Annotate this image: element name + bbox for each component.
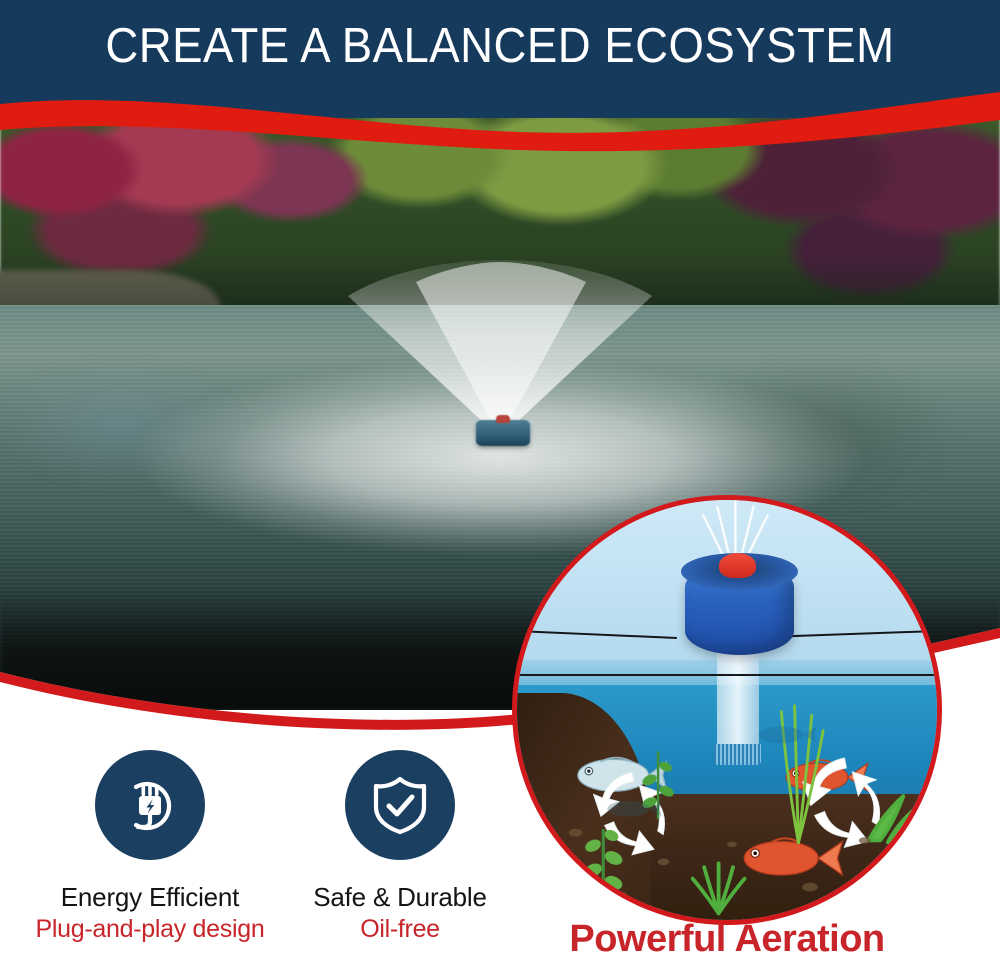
power-plug-icon xyxy=(116,771,184,839)
feature-energy-efficient: Energy Efficient Plug-and-play design xyxy=(25,750,275,944)
feature-icon-wrapper xyxy=(95,750,205,860)
product-infographic: CREATE A BALANCED ECOSYSTEM xyxy=(0,0,1000,970)
page-title: CREATE A BALANCED ECOSYSTEM xyxy=(35,18,965,74)
pebbles xyxy=(517,794,937,920)
pond-aerator-unit xyxy=(476,420,530,446)
fountain-spray-icon xyxy=(330,260,670,440)
fish-background-1 xyxy=(752,718,819,752)
red-wave-divider-top xyxy=(0,86,1000,156)
feature-icon-wrapper xyxy=(345,750,455,860)
waterline xyxy=(517,674,937,676)
shield-check-icon xyxy=(366,771,434,839)
feature-title: Energy Efficient xyxy=(25,882,275,913)
feature-title: Safe & Durable xyxy=(275,882,525,913)
inset-caption: Powerful Aeration xyxy=(512,918,942,961)
feature-subtitle: Plug-and-play design xyxy=(25,915,275,944)
feature-subtitle: Oil-free xyxy=(275,915,525,944)
feature-safe-durable: Safe & Durable Oil-free xyxy=(275,750,525,944)
aerator-nozzle xyxy=(719,553,757,578)
aeration-inset-circle xyxy=(512,495,942,925)
